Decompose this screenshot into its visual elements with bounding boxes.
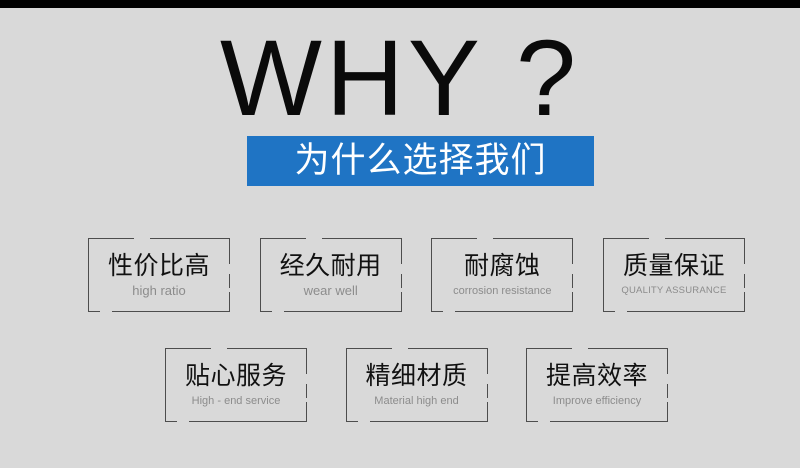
feature-card: 精细材质 Material high end <box>346 348 488 422</box>
feature-title-cn: 性价比高 <box>108 252 210 280</box>
feature-title-en: wear well <box>304 283 358 299</box>
poster-canvas: WHY ? 为什么选择我们 性价比高 high ratio 经久耐用 wear … <box>0 0 800 468</box>
feature-row-2: 贴心服务 High - end service 精细材质 Material hi… <box>165 348 668 422</box>
top-black-bar <box>0 0 800 8</box>
feature-title-en: corrosion resistance <box>453 283 551 299</box>
feature-title-cn: 精细材质 <box>365 362 467 390</box>
feature-card: 性价比高 high ratio <box>88 238 230 312</box>
feature-row-1: 性价比高 high ratio 经久耐用 wear well 耐腐蚀 corro… <box>88 238 745 312</box>
feature-title-en: High - end service <box>192 393 281 409</box>
feature-title-en: QUALITY ASSURANCE <box>621 283 726 299</box>
feature-card: 质量保证 QUALITY ASSURANCE <box>603 238 745 312</box>
feature-title-cn: 贴心服务 <box>185 362 287 390</box>
feature-title-en: Improve efficiency <box>553 393 641 409</box>
subtitle-banner: 为什么选择我们 <box>247 136 594 186</box>
feature-title-cn: 经久耐用 <box>280 252 382 280</box>
feature-title-cn: 质量保证 <box>623 252 725 280</box>
feature-card: 经久耐用 wear well <box>260 238 402 312</box>
feature-card: 耐腐蚀 corrosion resistance <box>431 238 573 312</box>
page-title: WHY ? <box>0 24 800 132</box>
feature-title-en: Material high end <box>374 393 458 409</box>
subtitle-text: 为什么选择我们 <box>294 142 546 180</box>
feature-title-cn: 耐腐蚀 <box>464 252 541 280</box>
feature-title-cn: 提高效率 <box>546 362 648 390</box>
feature-card: 提高效率 Improve efficiency <box>526 348 668 422</box>
feature-title-en: high ratio <box>132 283 185 299</box>
feature-card: 贴心服务 High - end service <box>165 348 307 422</box>
